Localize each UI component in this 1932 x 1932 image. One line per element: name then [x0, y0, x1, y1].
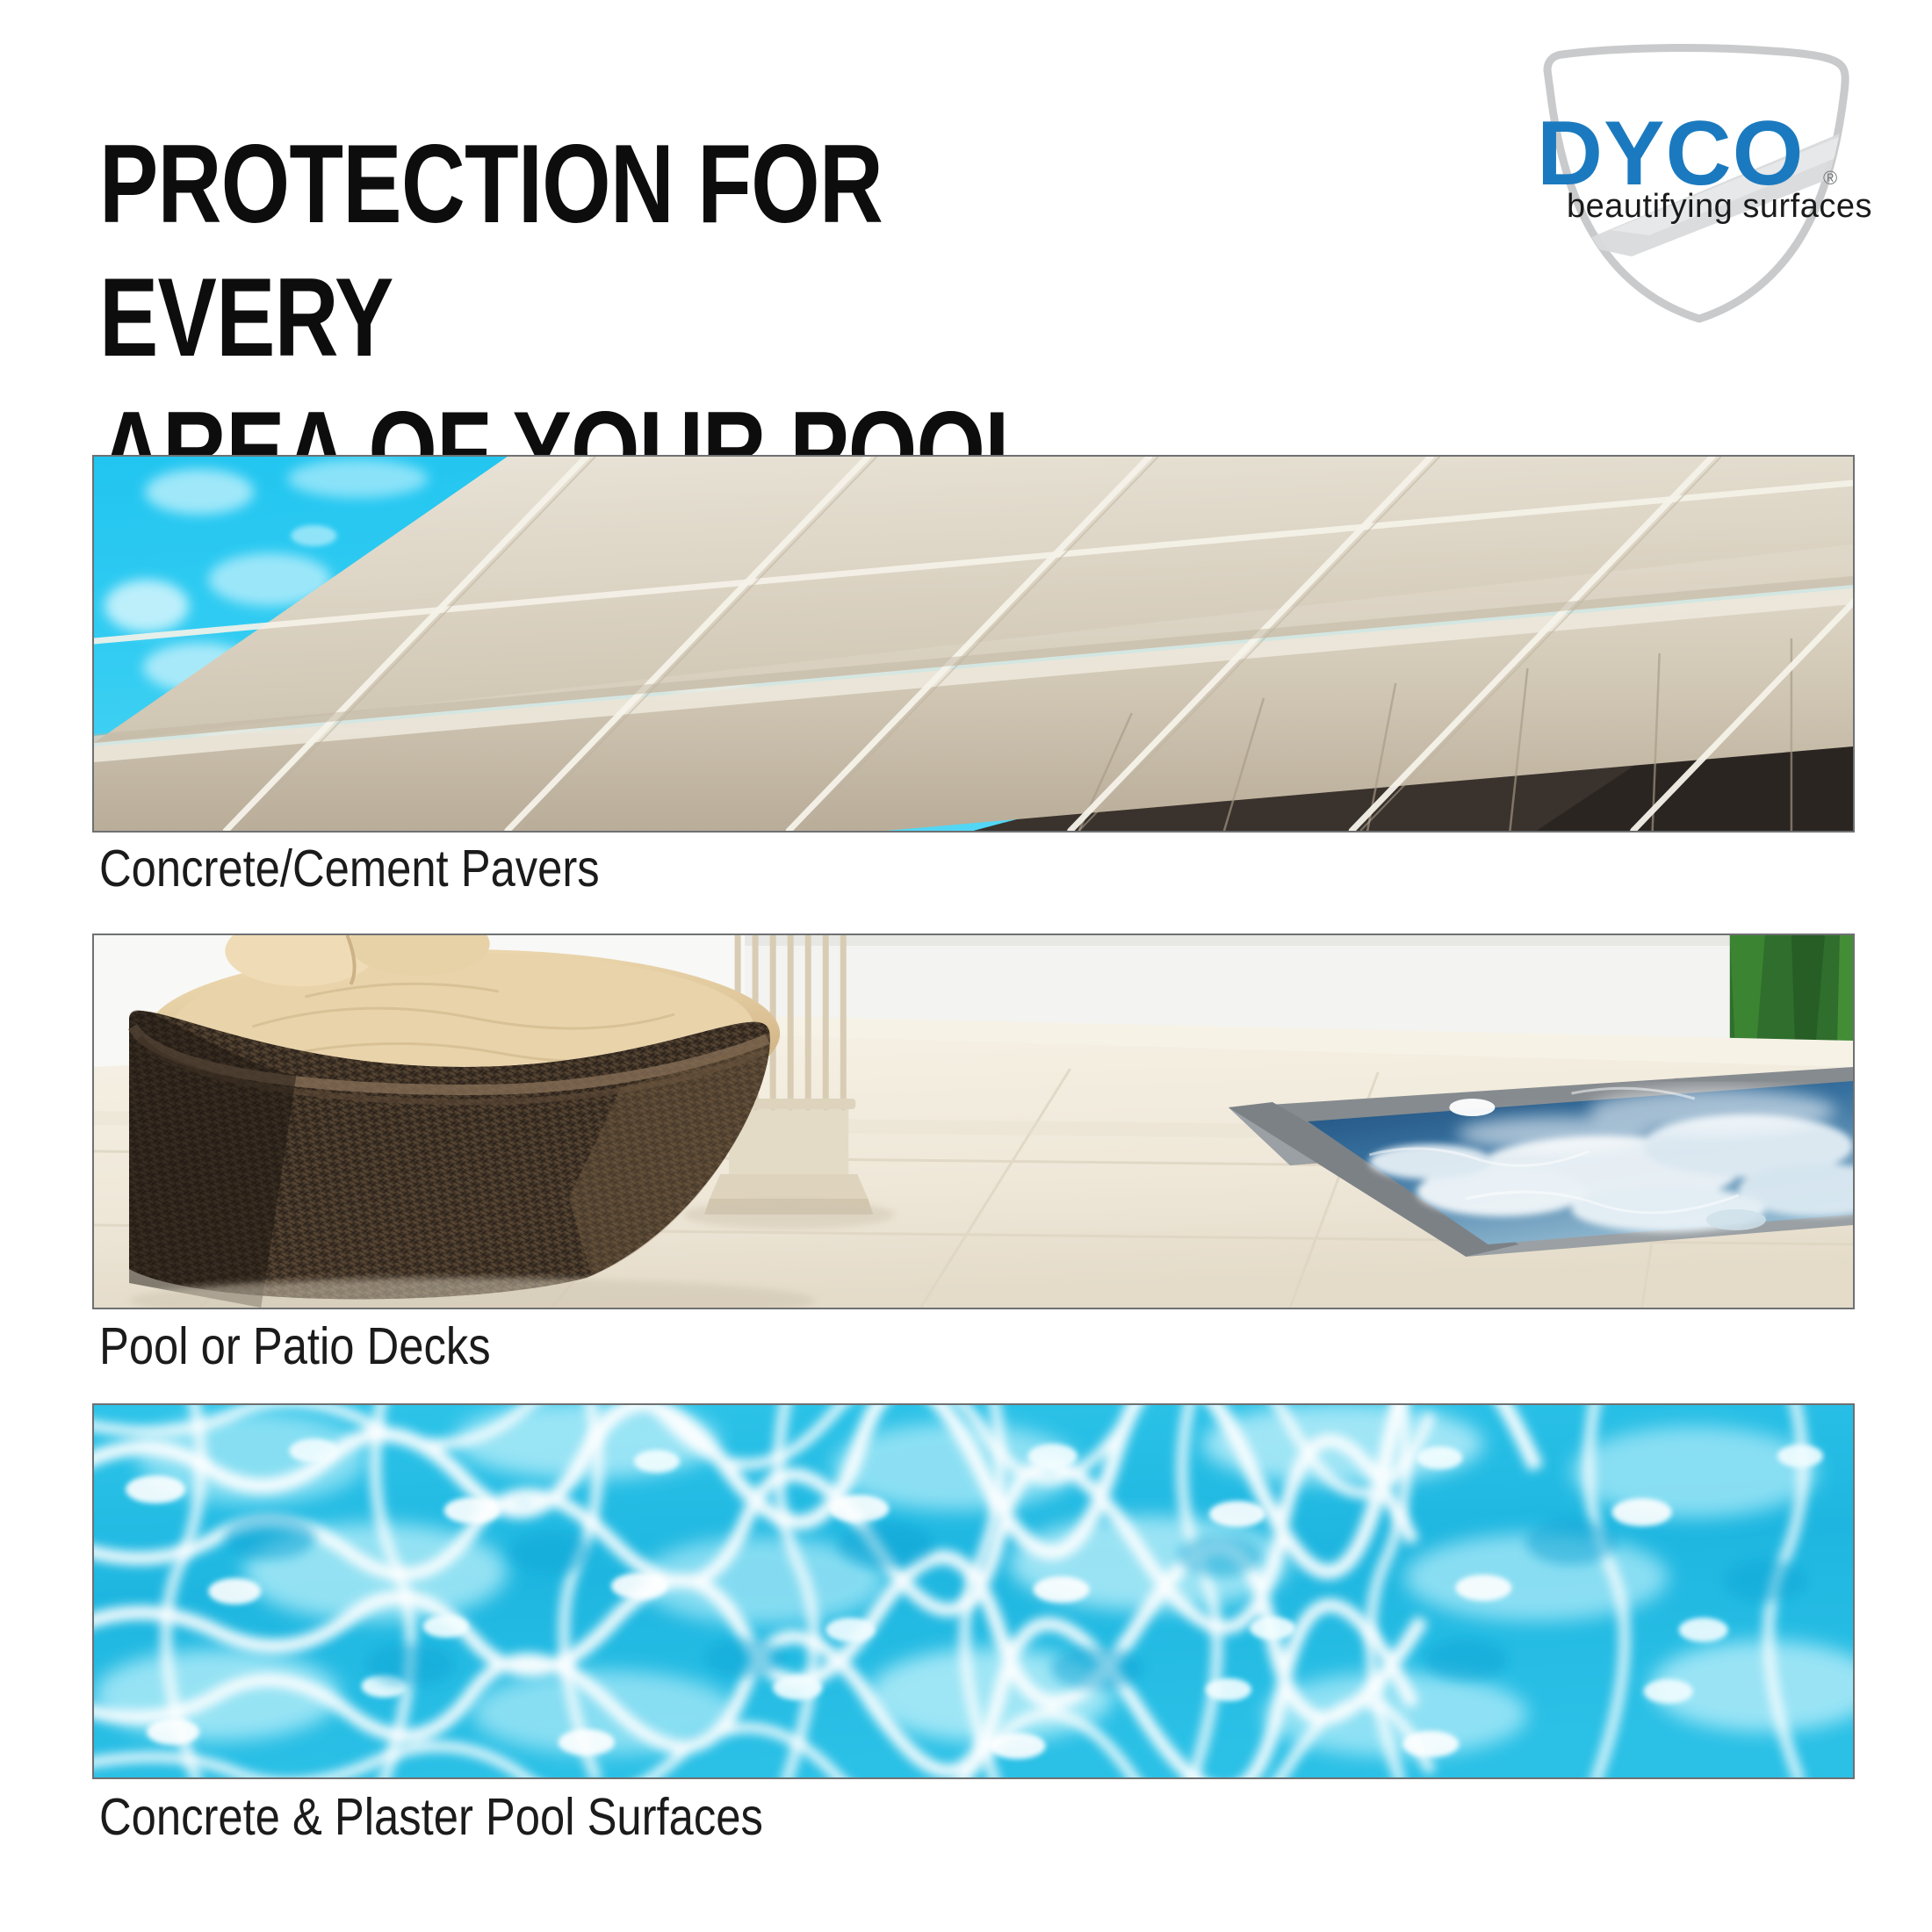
registered-trademark-icon: ® — [1823, 167, 1837, 189]
foliage — [1730, 935, 1853, 1048]
caption-concrete-plaster-pool-surfaces: Concrete & Plaster Pool Surfaces — [99, 1790, 763, 1844]
pool-light — [1706, 1209, 1766, 1230]
photo-concrete-plaster-pool-surfaces — [92, 1403, 1855, 1779]
dyco-logo: DYCO ® beautifying surfaces — [1526, 37, 1878, 327]
caption-pool-or-patio-decks: Pool or Patio Decks — [99, 1319, 491, 1373]
photo-concrete-cement-pavers — [92, 455, 1855, 833]
logo-tagline: beautifying surfaces — [1567, 188, 1872, 225]
poster-canvas: PROTECTION FOR EVERY AREA OF YOUR POOL D… — [0, 0, 1932, 1932]
caption-concrete-cement-pavers: Concrete/Cement Pavers — [99, 841, 600, 896]
photo-pool-or-patio-decks — [92, 934, 1855, 1309]
pool-fitting — [1449, 1099, 1495, 1116]
